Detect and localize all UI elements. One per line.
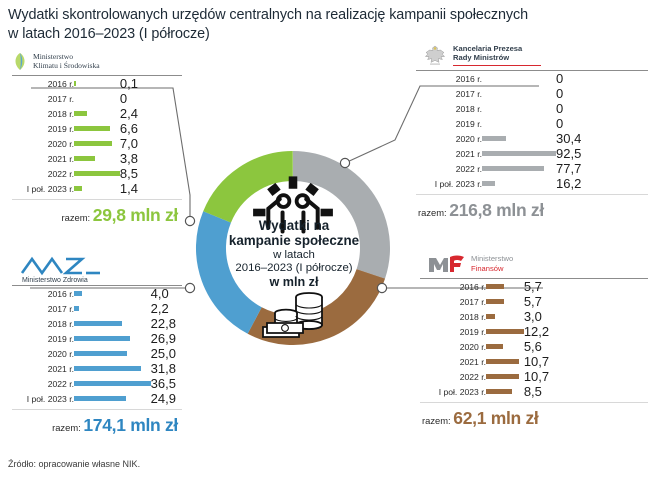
table-row: 2016 r.0,1 xyxy=(12,76,182,91)
table-row: 2021 r.31,8 xyxy=(12,361,182,376)
bar-fill xyxy=(486,389,512,394)
total-value-finance: 62,1 mln zł xyxy=(453,408,538,428)
table-finance: 2016 r.5,72017 r.5,72018 r.3,02019 r.12,… xyxy=(420,279,648,399)
block-ministerstwo-zdrowia: Ministerstwo Zdrowia 2016 r.4,02017 r.2,… xyxy=(12,255,182,436)
row-bar xyxy=(74,76,120,91)
leaf-icon xyxy=(12,52,28,71)
table-row: 2016 r.0 xyxy=(416,71,648,86)
table-row: 2019 r.0 xyxy=(416,116,648,131)
row-bar xyxy=(74,151,120,166)
logo-finance-text: Ministerstwo Finansów xyxy=(471,254,513,273)
table-row: 2021 r.92,5 xyxy=(416,146,648,161)
row-bar xyxy=(74,391,151,406)
row-year-label: 2018 r. xyxy=(420,309,486,324)
table-row: 2018 r.3,0 xyxy=(420,309,648,324)
row-year-label: 2016 r. xyxy=(420,279,486,294)
bar-fill xyxy=(74,381,151,386)
row-value: 92,5 xyxy=(556,146,648,161)
row-value: 8,5 xyxy=(524,384,648,399)
table-health: 2016 r.4,02017 r.2,22018 r.22,82019 r.26… xyxy=(12,286,182,406)
block-kancelaria-prezesa: Kancelaria Prezesa Rady Ministrów 2016 r… xyxy=(416,44,648,221)
total-divider-kprm xyxy=(416,194,648,195)
row-bar xyxy=(74,346,151,361)
row-value: 25,0 xyxy=(151,346,182,361)
row-year-label: 2021 r. xyxy=(12,151,74,166)
logo-kprm-line1: Kancelaria Prezesa xyxy=(453,44,541,53)
row-year-label: 2018 r. xyxy=(416,101,482,116)
row-value: 0 xyxy=(556,71,648,86)
table-row: 2017 r.0 xyxy=(416,86,648,101)
logo-kprm-line2: Rady Ministrów xyxy=(453,53,541,62)
row-bar xyxy=(482,101,556,116)
row-year-label: 2022 r. xyxy=(12,166,74,181)
row-year-label: 2019 r. xyxy=(12,121,74,136)
row-year-label: 2019 r. xyxy=(420,324,486,339)
row-bar xyxy=(74,316,151,331)
bar-fill xyxy=(486,344,503,349)
row-bar xyxy=(486,354,524,369)
table-row: 2021 r.3,8 xyxy=(12,151,182,166)
logo-finance-line2: Finansów xyxy=(471,264,513,274)
row-year-label: 2020 r. xyxy=(12,136,74,151)
row-bar xyxy=(482,71,556,86)
total-value-climate: 29,8 mln zł xyxy=(93,205,178,225)
total-label-climate: razem: xyxy=(62,212,91,223)
bar-fill xyxy=(482,136,506,141)
title-line-2: w latach 2016–2023 (I półrocze) xyxy=(8,25,608,44)
row-year-label: 2016 r. xyxy=(416,71,482,86)
page-title: Wydatki skontrolowanych urzędów centraln… xyxy=(8,6,608,44)
logo-climate-line2: Klimatu i Środowiska xyxy=(33,61,100,70)
table-row: 2017 r.0 xyxy=(12,91,182,106)
bar-fill xyxy=(486,314,495,319)
total-value-kprm: 216,8 mln zł xyxy=(449,200,544,220)
row-value: 2,4 xyxy=(120,106,182,121)
row-value: 31,8 xyxy=(151,361,182,376)
center-line-1: Wydatki na xyxy=(199,218,389,233)
bar-fill xyxy=(486,329,524,334)
bar-fill xyxy=(74,351,127,356)
row-year-label: I poł. 2023 r. xyxy=(12,391,74,406)
row-value: 0,1 xyxy=(120,76,182,91)
row-value: 2,2 xyxy=(151,301,182,316)
table-row: 2020 r.25,0 xyxy=(12,346,182,361)
row-bar xyxy=(486,339,524,354)
bar-fill xyxy=(486,284,504,289)
bar-fill xyxy=(486,359,519,364)
table-row: I poł. 2023 r.8,5 xyxy=(420,384,648,399)
row-year-label: I poł. 2023 r. xyxy=(416,176,482,191)
bar-fill xyxy=(74,291,82,296)
center-line-3: w latach xyxy=(199,249,389,262)
row-year-label: 2020 r. xyxy=(12,346,74,361)
bar-fill xyxy=(486,374,519,379)
row-value: 0 xyxy=(556,101,648,116)
eagle-emblem-icon xyxy=(422,44,448,66)
bar-fill xyxy=(74,366,141,371)
logo-finance-line1: Ministerstwo xyxy=(471,254,513,264)
row-value: 22,8 xyxy=(151,316,182,331)
row-year-label: 2017 r. xyxy=(12,301,74,316)
table-kprm: 2016 r.02017 r.02018 r.02019 r.02020 r.3… xyxy=(416,71,648,191)
total-divider-health xyxy=(12,409,182,410)
total-finance: razem: 62,1 mln zł xyxy=(420,408,648,429)
total-divider-climate xyxy=(12,199,182,200)
bar-fill xyxy=(74,321,122,326)
row-value: 10,7 xyxy=(524,369,648,384)
row-bar xyxy=(482,176,556,191)
total-kprm: razem: 216,8 mln zł xyxy=(416,200,648,221)
table-row: 2019 r.12,2 xyxy=(420,324,648,339)
bar-fill xyxy=(74,126,110,131)
table-climate: 2016 r.0,12017 r.02018 r.2,42019 r.6,620… xyxy=(12,76,182,196)
row-bar xyxy=(74,181,120,196)
row-value: 1,4 xyxy=(120,181,182,196)
table-row: 2022 r.77,7 xyxy=(416,161,648,176)
row-value: 4,0 xyxy=(151,286,182,301)
source-note: Źródło: opracowanie własne NIK. xyxy=(8,459,140,469)
row-year-label: 2021 r. xyxy=(420,354,486,369)
row-value: 16,2 xyxy=(556,176,648,191)
row-bar xyxy=(482,116,556,131)
row-bar xyxy=(74,286,151,301)
row-value: 6,6 xyxy=(120,121,182,136)
logo-health: Ministerstwo Zdrowia xyxy=(12,255,182,283)
row-year-label: 2017 r. xyxy=(416,86,482,101)
row-bar xyxy=(482,146,556,161)
row-bar xyxy=(74,91,120,106)
logo-health-caption: Ministerstwo Zdrowia xyxy=(22,277,88,283)
table-row: 2021 r.10,7 xyxy=(420,354,648,369)
row-year-label: I poł. 2023 r. xyxy=(420,384,486,399)
row-year-label: I poł. 2023 r. xyxy=(12,181,74,196)
row-year-label: 2018 r. xyxy=(12,316,74,331)
row-bar xyxy=(486,279,524,294)
mz-zigzag-icon: Ministerstwo Zdrowia xyxy=(20,255,112,283)
table-row: 2017 r.2,2 xyxy=(12,301,182,316)
bar-fill xyxy=(74,111,87,116)
center-line-4: 2016–2023 (I półrocze) xyxy=(199,262,389,275)
logo-finance: Ministerstwo Finansów xyxy=(420,254,648,274)
table-row: 2018 r.2,4 xyxy=(12,106,182,121)
row-bar xyxy=(486,309,524,324)
bar-fill xyxy=(482,151,556,156)
table-row: 2018 r.0 xyxy=(416,101,648,116)
row-year-label: 2018 r. xyxy=(12,106,74,121)
table-row: 2020 r.7,0 xyxy=(12,136,182,151)
row-value: 24,9 xyxy=(151,391,182,406)
row-value: 3,8 xyxy=(120,151,182,166)
row-value: 0 xyxy=(556,116,648,131)
row-value: 26,9 xyxy=(151,331,182,346)
row-bar xyxy=(486,324,524,339)
row-year-label: 2016 r. xyxy=(12,286,74,301)
bar-fill xyxy=(74,171,120,176)
bar-fill xyxy=(74,396,126,401)
row-bar xyxy=(486,369,524,384)
row-year-label: 2022 r. xyxy=(12,376,74,391)
row-year-label: 2020 r. xyxy=(416,131,482,146)
table-row: 2017 r.5,7 xyxy=(420,294,648,309)
row-value: 12,2 xyxy=(524,324,648,339)
row-bar xyxy=(74,331,151,346)
row-year-label: 2021 r. xyxy=(416,146,482,161)
table-row: 2016 r.5,7 xyxy=(420,279,648,294)
row-bar xyxy=(482,131,556,146)
row-bar xyxy=(74,166,120,181)
row-year-label: 2020 r. xyxy=(420,339,486,354)
bar-fill xyxy=(74,336,130,341)
table-row: I poł. 2023 r.24,9 xyxy=(12,391,182,406)
table-row: 2020 r.30,4 xyxy=(416,131,648,146)
row-value: 5,6 xyxy=(524,339,648,354)
bar-fill xyxy=(486,299,504,304)
table-row: I poł. 2023 r.16,2 xyxy=(416,176,648,191)
row-year-label: 2017 r. xyxy=(420,294,486,309)
bar-fill xyxy=(74,141,112,146)
row-year-label: 2016 r. xyxy=(12,76,74,91)
bar-fill xyxy=(74,306,79,311)
row-bar xyxy=(482,161,556,176)
bar-fill xyxy=(482,181,495,186)
row-value: 30,4 xyxy=(556,131,648,146)
donut-center-label: Wydatki na kampanie społeczne w latach 2… xyxy=(199,218,389,289)
total-label-kprm: razem: xyxy=(418,207,447,218)
table-row: 2019 r.6,6 xyxy=(12,121,182,136)
row-value: 8,5 xyxy=(120,166,182,181)
bar-fill xyxy=(74,186,82,191)
row-bar xyxy=(486,384,524,399)
logo-kprm-text: Kancelaria Prezesa Rady Ministrów xyxy=(453,44,541,66)
row-year-label: 2017 r. xyxy=(12,91,74,106)
row-bar xyxy=(74,136,120,151)
table-row: 2016 r.4,0 xyxy=(12,286,182,301)
row-bar xyxy=(74,361,151,376)
title-line-1: Wydatki skontrolowanych urzędów centraln… xyxy=(8,7,528,23)
total-climate: razem: 29,8 mln zł xyxy=(12,205,182,226)
row-bar xyxy=(74,301,151,316)
row-year-label: 2019 r. xyxy=(416,116,482,131)
table-row: 2022 r.8,5 xyxy=(12,166,182,181)
logo-climate: Ministerstwo Klimatu i Środowiska xyxy=(12,52,182,71)
table-row: 2020 r.5,6 xyxy=(420,339,648,354)
infographic-root: Wydatki skontrolowanych urzędów centraln… xyxy=(0,0,655,480)
mf-logo-icon xyxy=(428,254,466,274)
row-value: 0 xyxy=(556,86,648,101)
row-value: 0 xyxy=(120,91,182,106)
row-year-label: 2022 r. xyxy=(416,161,482,176)
total-label-health: razem: xyxy=(52,422,81,433)
center-line-2: kampanie społeczne xyxy=(199,233,389,248)
row-value: 77,7 xyxy=(556,161,648,176)
row-bar xyxy=(486,294,524,309)
row-value: 5,7 xyxy=(524,294,648,309)
center-line-5: w mln zł xyxy=(199,276,389,289)
table-row: 2022 r.36,5 xyxy=(12,376,182,391)
total-health: razem: 174,1 mln zł xyxy=(12,415,182,436)
table-row: I poł. 2023 r.1,4 xyxy=(12,181,182,196)
bar-fill xyxy=(74,156,95,161)
row-value: 7,0 xyxy=(120,136,182,151)
total-value-health: 174,1 mln zł xyxy=(83,415,178,435)
row-bar xyxy=(74,121,120,136)
row-bar xyxy=(74,106,120,121)
logo-kprm-redline xyxy=(453,65,541,67)
logo-kprm: Kancelaria Prezesa Rady Ministrów xyxy=(416,44,648,66)
total-divider-finance xyxy=(420,402,648,403)
bar-fill xyxy=(74,81,76,86)
row-bar xyxy=(74,376,151,391)
table-row: 2019 r.26,9 xyxy=(12,331,182,346)
table-row: 2018 r.22,8 xyxy=(12,316,182,331)
logo-climate-line1: Ministerstwo xyxy=(33,52,100,61)
row-value: 36,5 xyxy=(151,376,182,391)
block-ministerstwo-klimatu: Ministerstwo Klimatu i Środowiska 2016 r… xyxy=(12,52,182,226)
row-value: 5,7 xyxy=(524,279,648,294)
bar-fill xyxy=(482,166,544,171)
row-value: 10,7 xyxy=(524,354,648,369)
row-year-label: 2022 r. xyxy=(420,369,486,384)
table-row: 2022 r.10,7 xyxy=(420,369,648,384)
row-bar xyxy=(482,86,556,101)
row-year-label: 2021 r. xyxy=(12,361,74,376)
row-year-label: 2019 r. xyxy=(12,331,74,346)
logo-climate-text: Ministerstwo Klimatu i Środowiska xyxy=(33,52,100,71)
block-ministerstwo-finansow: Ministerstwo Finansów 2016 r.5,72017 r.5… xyxy=(420,254,648,429)
total-label-finance: razem: xyxy=(422,415,451,426)
row-value: 3,0 xyxy=(524,309,648,324)
